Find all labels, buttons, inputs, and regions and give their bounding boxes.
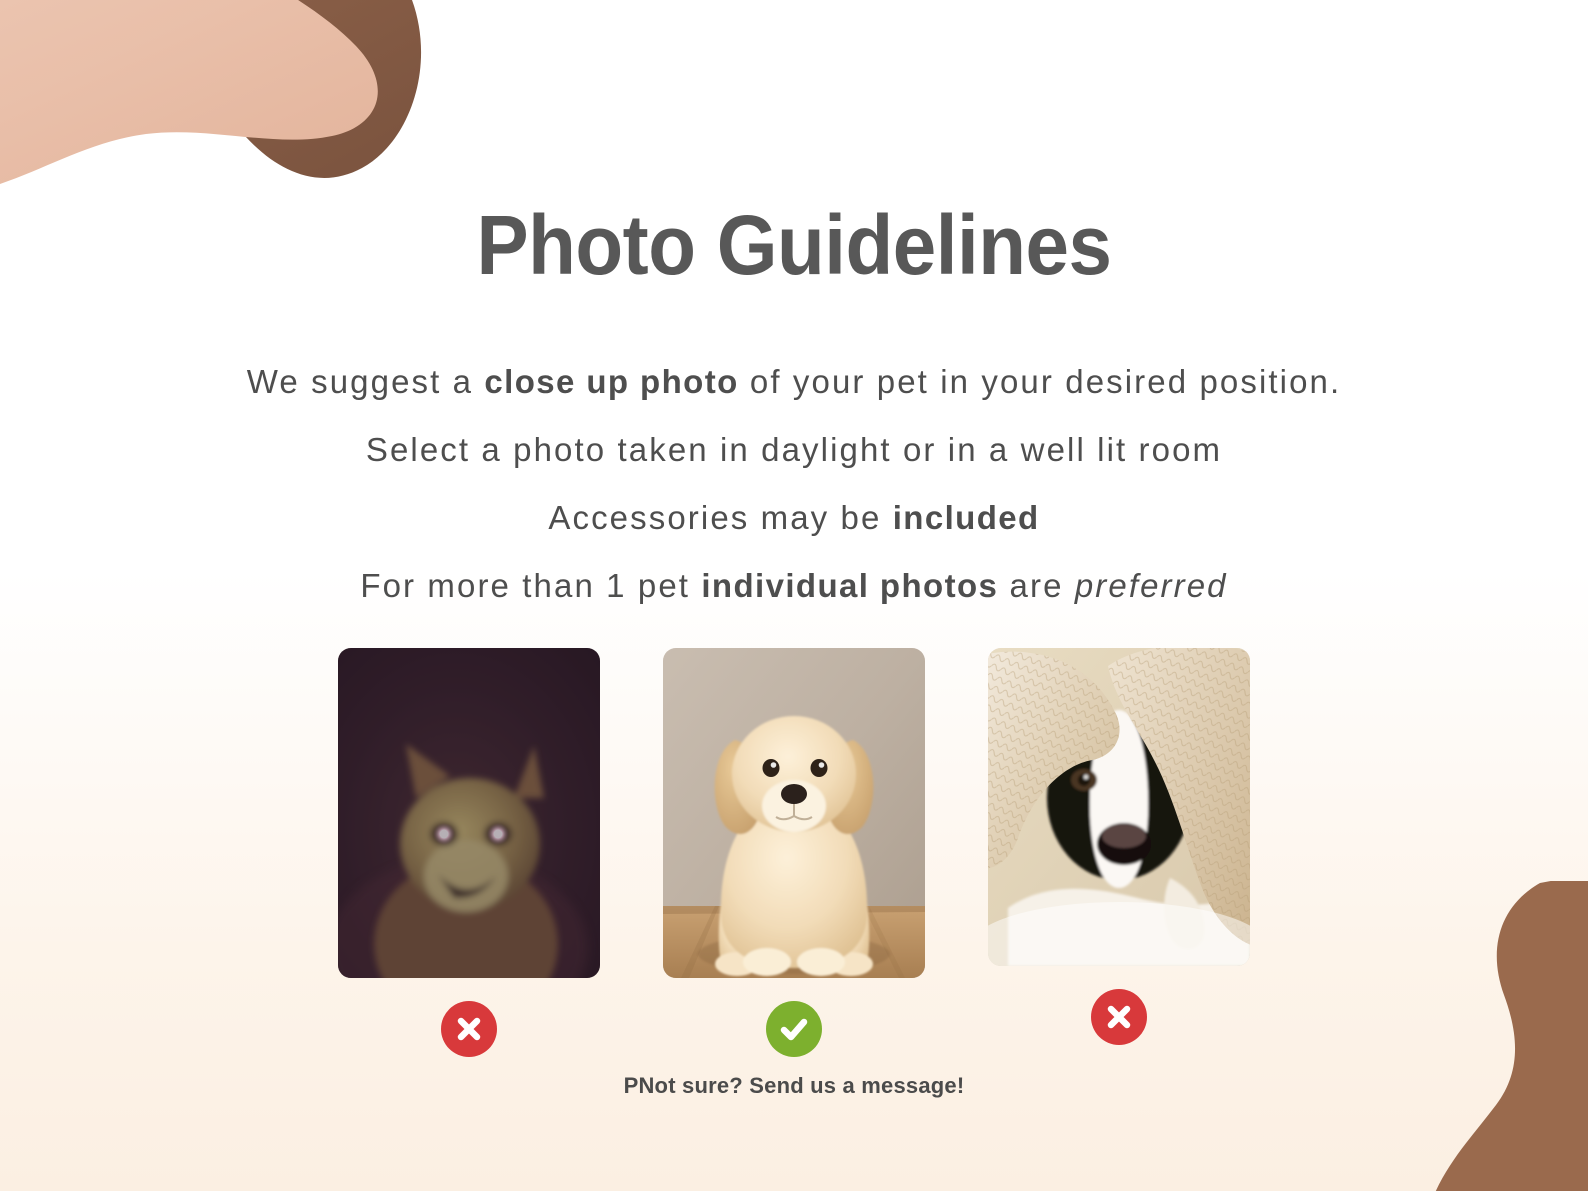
golden-puppy-photo-image	[663, 648, 925, 978]
guideline-text-emphasis: individual photos	[701, 567, 998, 604]
guideline-text-part: are	[998, 567, 1075, 604]
blanket-dog-photo-image	[988, 648, 1250, 966]
guidelines-list: We suggest a close up photo of your pet …	[0, 348, 1588, 620]
guideline-text-part: We suggest a	[247, 363, 485, 400]
guideline-text-emphasis: included	[893, 499, 1040, 536]
verdict-badge-rejected	[441, 1001, 497, 1057]
top-left-light-blob-icon	[0, 0, 400, 210]
guideline-multiple-pets: For more than 1 pet individual photos ar…	[0, 552, 1588, 620]
guideline-text-part: of your pet in your desired position.	[739, 363, 1342, 400]
verdict-badge-accepted	[766, 1001, 822, 1057]
contact-note[interactable]: PNot sure? Send us a message!	[0, 1073, 1588, 1099]
check-icon	[776, 1011, 812, 1047]
guideline-text-emphasis: close up photo	[484, 363, 738, 400]
guideline-close-up: We suggest a close up photo of your pet …	[0, 348, 1588, 416]
cross-icon	[452, 1012, 486, 1046]
photo-thumbnail[interactable]	[663, 648, 925, 978]
verdict-badge-rejected	[1091, 989, 1147, 1045]
photo-guidelines-page: Photo Guidelines We suggest a close up p…	[0, 0, 1588, 1191]
cross-icon	[1102, 1000, 1136, 1034]
photo-thumbnail[interactable]	[338, 648, 600, 978]
guideline-accessories: Accessories may be included	[0, 484, 1588, 552]
guideline-text-part: Accessories may be	[548, 499, 892, 536]
example-photo-golden-retriever-puppy	[663, 648, 925, 1057]
photo-thumbnail[interactable]	[988, 648, 1250, 966]
guideline-text-italic: preferred	[1075, 567, 1228, 604]
guideline-daylight: Select a photo taken in daylight or in a…	[0, 416, 1588, 484]
example-photos-row	[0, 648, 1588, 1057]
guideline-text-part: Select a photo taken in daylight or in a…	[366, 431, 1222, 468]
guideline-text-part: For more than 1 pet	[360, 567, 701, 604]
example-photo-dark-doge	[338, 648, 600, 1057]
dark-dog-photo-image	[338, 648, 600, 978]
top-left-dark-blob-icon	[0, 0, 440, 190]
example-photo-dog-under-blanket	[988, 648, 1250, 1045]
page-title: Photo Guidelines	[56, 203, 1533, 287]
